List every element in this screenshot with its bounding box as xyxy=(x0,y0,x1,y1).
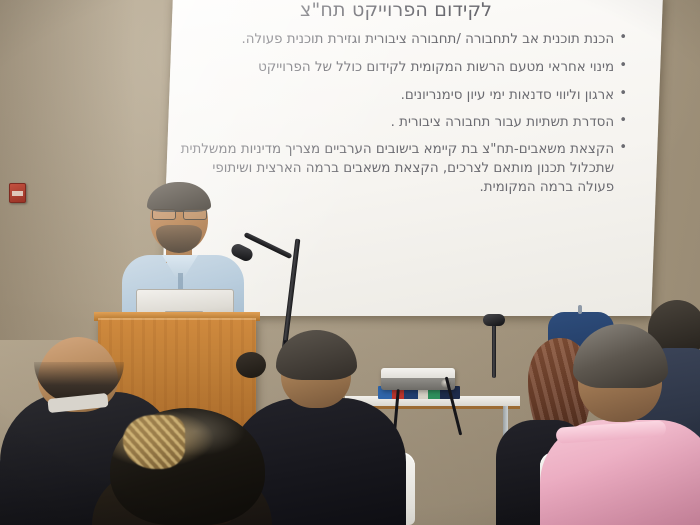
presenter-beard xyxy=(156,225,202,253)
slide-bullet-list: הכנת תוכנית אב לתחבורה /תחבורה ציבורית ו… xyxy=(177,30,645,197)
glasses-icon xyxy=(151,209,208,218)
fire-alarm-icon xyxy=(9,183,26,203)
presentation-room-photo: לקידום הפרוייקט תח"צ הכנת תוכנית אב לתחב… xyxy=(0,0,700,525)
slide-bullet-2: מינוי אחראי מטעם הרשות המקומית לקידום כו… xyxy=(177,58,627,77)
projector xyxy=(381,368,455,390)
presenter-hair xyxy=(147,182,211,212)
slide-bullet-1: הכנת תוכנית אב לתחבורה /תחבורה ציבורית ו… xyxy=(177,30,627,49)
headscarf-embroidery xyxy=(123,415,185,469)
second-microphone-stand xyxy=(492,320,496,378)
second-microphone-icon xyxy=(483,314,505,326)
slide-bullet-4: הסדרת תשתיות עבור תחבורה ציבורית . xyxy=(177,113,627,132)
slide-bullet-3: ארגון וליווי סדנאות ימי עיון סימנריונים. xyxy=(177,86,627,105)
slide-title: לקידום הפרוייקט תח"צ xyxy=(177,1,615,21)
audience-head-back-row xyxy=(236,352,266,378)
